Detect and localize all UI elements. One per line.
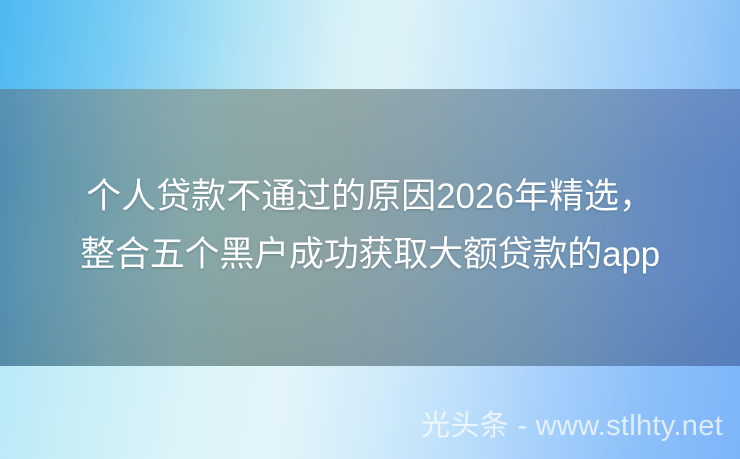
headline-line-2: 整合五个黑户成功获取大额贷款的app: [0, 226, 740, 284]
site-watermark: 光头条 - www.stlhty.net: [421, 408, 723, 444]
headline-line-1: 个人贷款不通过的原因2026年精选，: [0, 168, 740, 226]
promo-banner: 个人贷款不通过的原因2026年精选， 整合五个黑户成功获取大额贷款的app 光头…: [0, 0, 740, 459]
headline-text: 个人贷款不通过的原因2026年精选， 整合五个黑户成功获取大额贷款的app: [0, 168, 740, 284]
sky-band-top: [0, 0, 740, 89]
